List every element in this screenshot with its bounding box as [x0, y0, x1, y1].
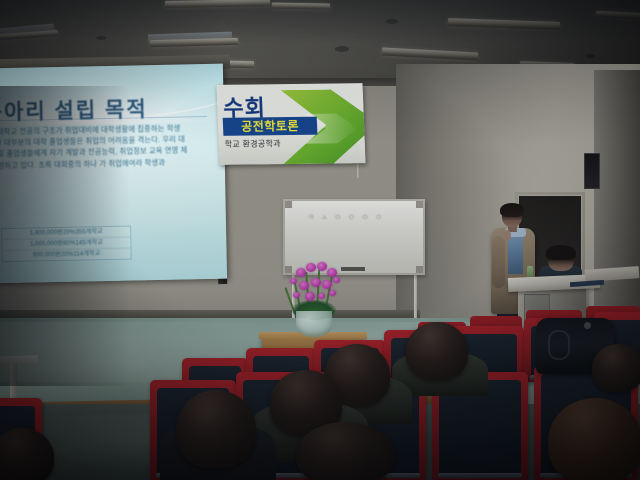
whiteboard-marker-tray — [341, 267, 365, 271]
backpack-zipper-icon — [584, 322, 591, 329]
orchid-bloom — [327, 268, 337, 277]
orchid-bloom — [306, 263, 316, 272]
orchid-bloom — [299, 281, 309, 290]
orchid-vase — [296, 311, 332, 337]
orchid-bloom — [333, 277, 340, 283]
whiteboard: ㅋ ㅅ ㅇ ㅇ ㅇ ㅇ — [283, 199, 425, 275]
banner-department: 학교 환경공학과 — [225, 138, 282, 150]
orchid-bloom — [318, 293, 325, 299]
event-banner: 수회 공전학토론 학교 환경공학과 — [216, 83, 365, 165]
backpack-strap — [548, 330, 570, 360]
orchid-bloom — [311, 278, 321, 287]
left-shadow — [0, 86, 130, 386]
whiteboard-writing: ㅋ ㅅ ㅇ ㅇ ㅇ ㅇ — [307, 212, 407, 222]
attendee-head-far-right-back — [592, 344, 640, 392]
banner-subtitle: 공전학토론 — [223, 117, 318, 136]
whiteboard-corner — [416, 266, 423, 273]
whiteboard-corner — [285, 266, 292, 273]
attendee-head-left — [176, 390, 256, 468]
orchid-bloom — [296, 268, 306, 277]
attendee-head-front-center — [296, 422, 394, 480]
presenter-hair — [500, 203, 524, 217]
orchid-bloom — [329, 290, 336, 296]
seat-bar — [438, 473, 522, 478]
orchid-bloom — [322, 280, 332, 289]
orchid-bloom — [317, 262, 327, 271]
attendee-head-far-right — [548, 398, 640, 480]
whiteboard-corner — [416, 201, 423, 208]
presenter-hand — [502, 230, 511, 241]
lecture-hall-photo: 동아리 설립 목적 현재 대학교 전공의 구조가 취업대비에 대학생활에 집중하… — [0, 0, 640, 480]
presenter-arm — [492, 236, 505, 288]
attendee-head-mid — [406, 322, 468, 380]
wall-speaker-icon — [584, 153, 600, 189]
orchid-bloom — [293, 292, 300, 298]
seated-attendant-hair — [546, 245, 576, 260]
orchid-bloom — [290, 278, 297, 284]
whiteboard-corner — [285, 201, 292, 208]
orchid-bloom — [305, 292, 315, 301]
